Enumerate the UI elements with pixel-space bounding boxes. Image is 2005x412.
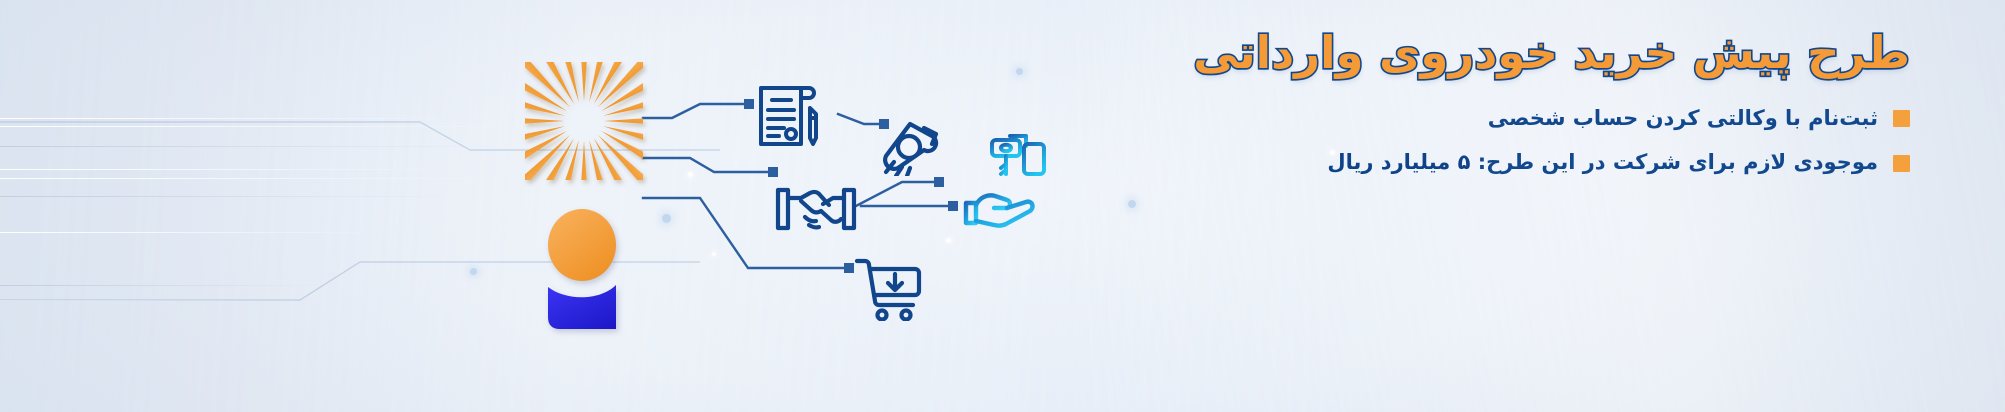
orange-square-bullet-icon (1893, 155, 1910, 172)
sparkle-dot (712, 252, 716, 256)
speed-line (0, 169, 455, 170)
banner-text-block: طرح پیش خرید خودروی وارداتی ثبت‌نام با و… (970, 26, 1910, 192)
promo-banner: طرح پیش خرید خودروی وارداتی ثبت‌نام با و… (0, 0, 2005, 412)
speed-line (0, 118, 470, 119)
speed-line (0, 196, 470, 197)
user-avatar-icon (520, 205, 650, 333)
speed-line (0, 232, 390, 233)
banner-bullet-list: ثبت‌نام با وکالتی کردن حساب شخصی موجودی … (970, 103, 1910, 179)
bullet-label: موجودی لازم برای شرکت در این طرح: ۵ میلی… (1327, 147, 1878, 179)
speed-line (0, 178, 500, 179)
shopping-cart-download-icon (853, 255, 923, 321)
speed-line (0, 285, 330, 286)
sparkle-dot (1128, 200, 1136, 208)
speed-line (0, 300, 300, 301)
speed-line (0, 146, 520, 147)
banner-headline: طرح پیش خرید خودروی وارداتی (970, 26, 1910, 81)
contract-document-icon (753, 78, 825, 150)
handshake-icon (775, 180, 857, 238)
sparkle-dot (470, 268, 477, 275)
sparkle-dot (688, 172, 693, 177)
bullet-label: ثبت‌نام با وکالتی کردن حساب شخصی (1488, 103, 1878, 135)
sparkle-dot (662, 214, 671, 223)
bullet-item: موجودی لازم برای شرکت در این طرح: ۵ میلی… (970, 147, 1910, 179)
diploma-certificate-icon (880, 118, 942, 176)
orange-square-bullet-icon (1893, 110, 1910, 127)
bullet-emphasis: ۵ میلیارد ریال (1327, 150, 1470, 174)
bullet-item: ثبت‌نام با وکالتی کردن حساب شخصی (970, 103, 1910, 135)
speed-line (0, 126, 530, 127)
sparkle-dot (946, 238, 951, 243)
sunburst-logo-icon (525, 62, 643, 180)
